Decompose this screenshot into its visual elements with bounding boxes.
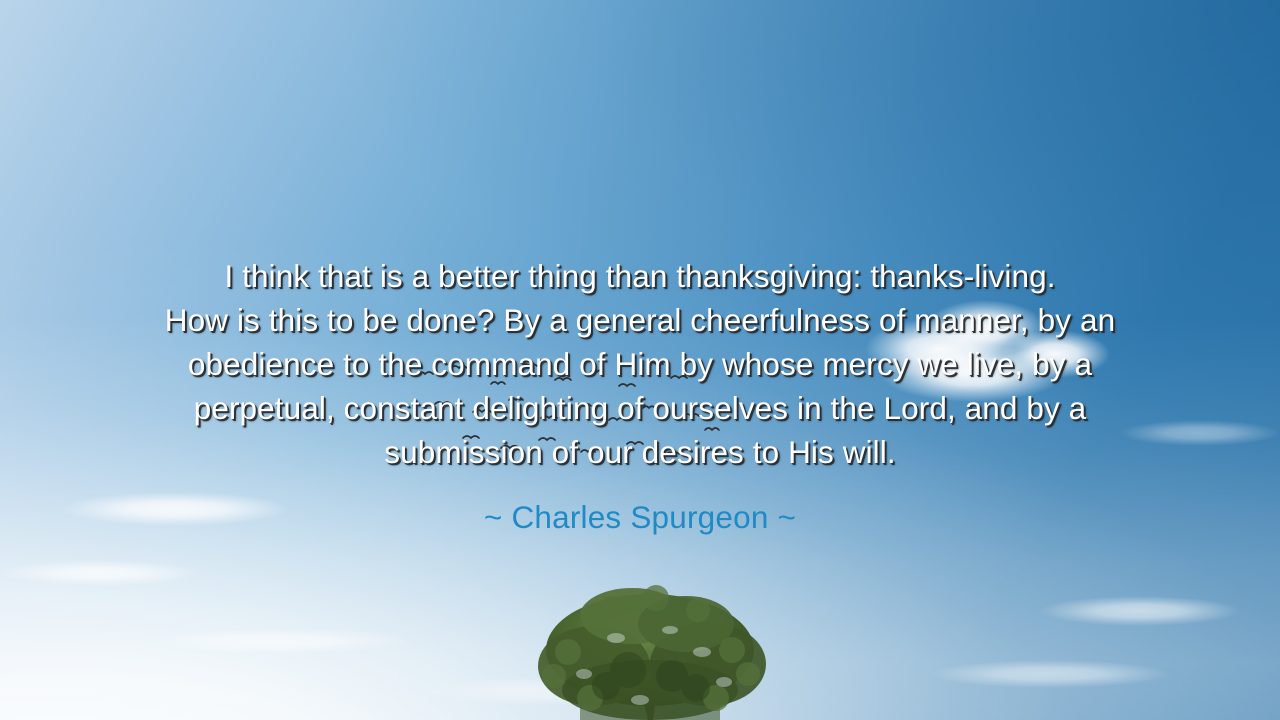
quote-attribution: ~ Charles Spurgeon ~ [50, 498, 1230, 536]
text-overlay: I think that is a better thing than than… [0, 0, 1280, 720]
quote-body-text: I think that is a better thing than than… [50, 254, 1230, 474]
quote-scene: I think that is a better thing than than… [0, 0, 1280, 720]
